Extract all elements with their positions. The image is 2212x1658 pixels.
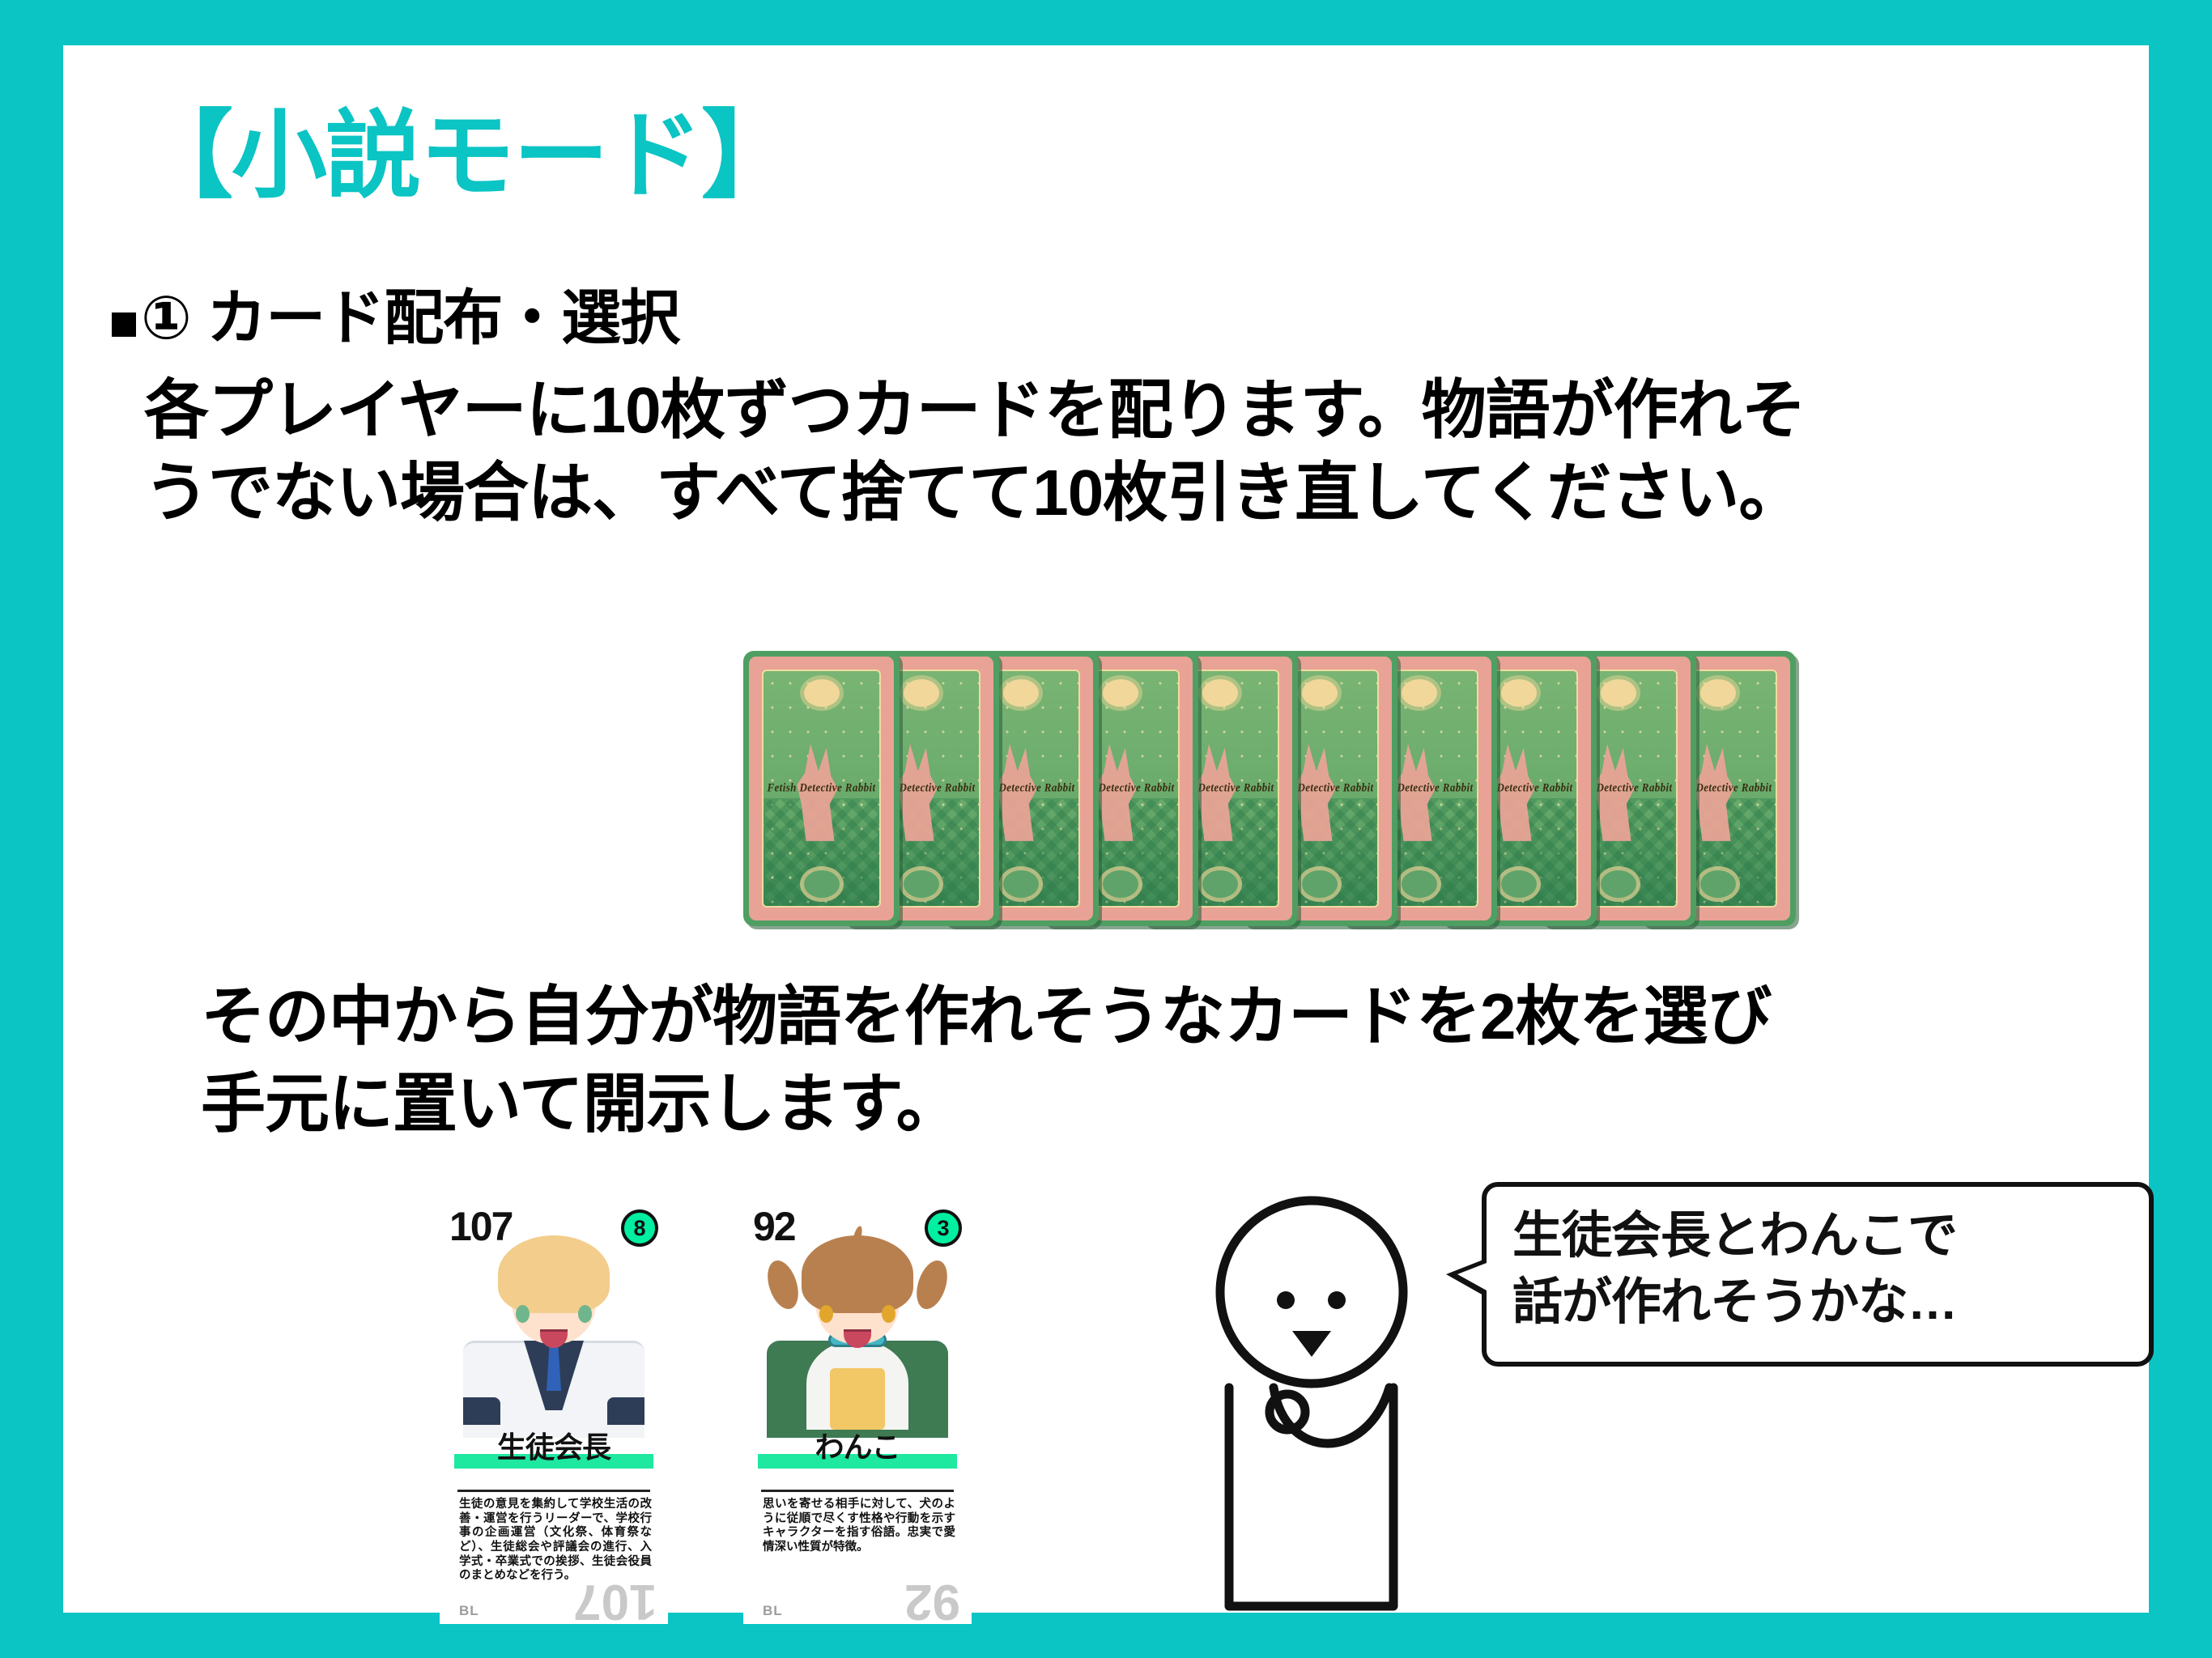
character-portrait [764, 1226, 951, 1438]
speech-bubble: 生徒会長とわんこで 話が作れそうかな… [1482, 1182, 2154, 1367]
card-name-area: わんこ [743, 1433, 972, 1477]
card-name: 生徒会長 [440, 1433, 668, 1462]
sun-icon [1202, 679, 1238, 707]
character-card-student-council-president[interactable]: 107 8 生徒会長 生徒の意見を集約して学校生活の改善・運営を行うリーダーで、… [440, 1205, 668, 1624]
sun-icon [1501, 679, 1537, 707]
sun-icon [1700, 679, 1736, 707]
sun-icon [1003, 679, 1039, 707]
square-bullet-icon [112, 312, 136, 337]
sun-bottom-icon [1601, 870, 1636, 898]
paragraph2-line2: 手元に置いて開示します。 [201, 1061, 2087, 1148]
page-title: 【小説モード】 [138, 108, 795, 204]
sun-bottom-icon [1302, 870, 1338, 898]
portrait-body [767, 1341, 948, 1438]
sun-bottom-icon [1501, 870, 1537, 898]
portrait-cuff-left [463, 1397, 500, 1425]
portrait-dog-ear-left [762, 1256, 803, 1312]
paragraph-card-selection: その中から自分が物語を作れそうなカードを2枚を選び 手元に置いて開示します。 [201, 973, 2087, 1148]
speech-line-1: 生徒会長とわんこで [1512, 1203, 2134, 1269]
sun-icon [1302, 679, 1338, 707]
sun-icon [1103, 679, 1138, 707]
portrait-eye-left [516, 1305, 530, 1323]
sun-bottom-icon [1202, 870, 1238, 898]
sun-bottom-icon [804, 870, 840, 898]
portrait-hair [802, 1235, 913, 1313]
sun-bottom-icon [1103, 870, 1138, 898]
card-divider [457, 1490, 650, 1492]
card-fan: Fetish Detective RabbitFetish Detective … [743, 651, 1796, 934]
portrait-dog-ear-right [911, 1256, 952, 1312]
sun-icon [1402, 679, 1437, 707]
bullet-heading-label: ① カード配布・選択 [141, 288, 679, 348]
person-eye-left-icon [1277, 1291, 1295, 1309]
portrait-eye-right [882, 1305, 895, 1323]
portrait-eye-left [819, 1305, 833, 1323]
card-back-inner: Fetish Detective Rabbit [762, 670, 881, 908]
speech-bubble-tail-inner [1457, 1263, 1487, 1290]
bullet-heading: ① カード配布・選択 [112, 288, 679, 348]
sun-bottom-icon [1402, 870, 1437, 898]
speech-line-2: 話が作れそうかな… [1512, 1269, 2134, 1336]
sun-icon [904, 679, 939, 707]
speech-bubble-text: 生徒会長とわんこで 話が作れそうかな… [1512, 1203, 2134, 1336]
portrait-shirt [830, 1368, 885, 1430]
portrait-eye-right [578, 1305, 592, 1323]
character-card-wanko[interactable]: 92 3 わんこ 思いを寄せる相手に対して、犬のように従順で尽くす性格や行動を示… [743, 1205, 972, 1624]
sun-bottom-icon [1700, 870, 1736, 898]
card-ghost-number: 92 [904, 1579, 960, 1624]
portrait-body [463, 1341, 644, 1438]
card-corner-label: BL [459, 1603, 479, 1619]
sun-icon [804, 679, 840, 707]
card-ghost-number: 107 [573, 1579, 657, 1624]
card-name-area: 生徒会長 [440, 1433, 668, 1477]
face-down-card[interactable]: Fetish Detective Rabbit [743, 651, 900, 926]
sun-icon [1601, 679, 1636, 707]
card-description: 生徒の意見を集約して学校生活の改善・運営を行うリーダーで、学校行事の企画運営（文… [459, 1498, 652, 1584]
paragraph-card-dealing: 各プレイヤーに10枚ずつカードを配ります。物語が作れそ うでない場合は、すべて捨… [144, 369, 2104, 535]
character-portrait [461, 1226, 647, 1438]
paragraph1-line2: うでない場合は、すべて捨てて10枚引き直してください。 [144, 452, 2104, 534]
card-divider [761, 1490, 954, 1492]
sun-bottom-icon [904, 870, 939, 898]
card-name: わんこ [743, 1433, 972, 1462]
card-back-title: Fetish Detective Rabbit [764, 780, 879, 795]
card-description: 思いを寄せる相手に対して、犬のように従順で尽くす性格や行動を示すキャラクターを指… [763, 1498, 955, 1555]
portrait-hair [498, 1235, 610, 1313]
slide-canvas: 【小説モード】 ① カード配布・選択 各プレイヤーに10枚ずつカードを配ります。… [63, 45, 2149, 1613]
person-eye-right-icon [1328, 1291, 1346, 1309]
person-mouth-icon [1292, 1331, 1331, 1357]
paragraph2-line1: その中から自分が物語を作れそうなカードを2枚を選び [201, 973, 2087, 1061]
sun-bottom-icon [1003, 870, 1039, 898]
card-corner-label: BL [763, 1603, 783, 1619]
card-back-frame: Fetish Detective Rabbit [749, 657, 894, 920]
portrait-cuff-right [607, 1397, 644, 1425]
paragraph1-line1: 各プレイヤーに10枚ずつカードを配ります。物語が作れそ [144, 369, 2104, 452]
